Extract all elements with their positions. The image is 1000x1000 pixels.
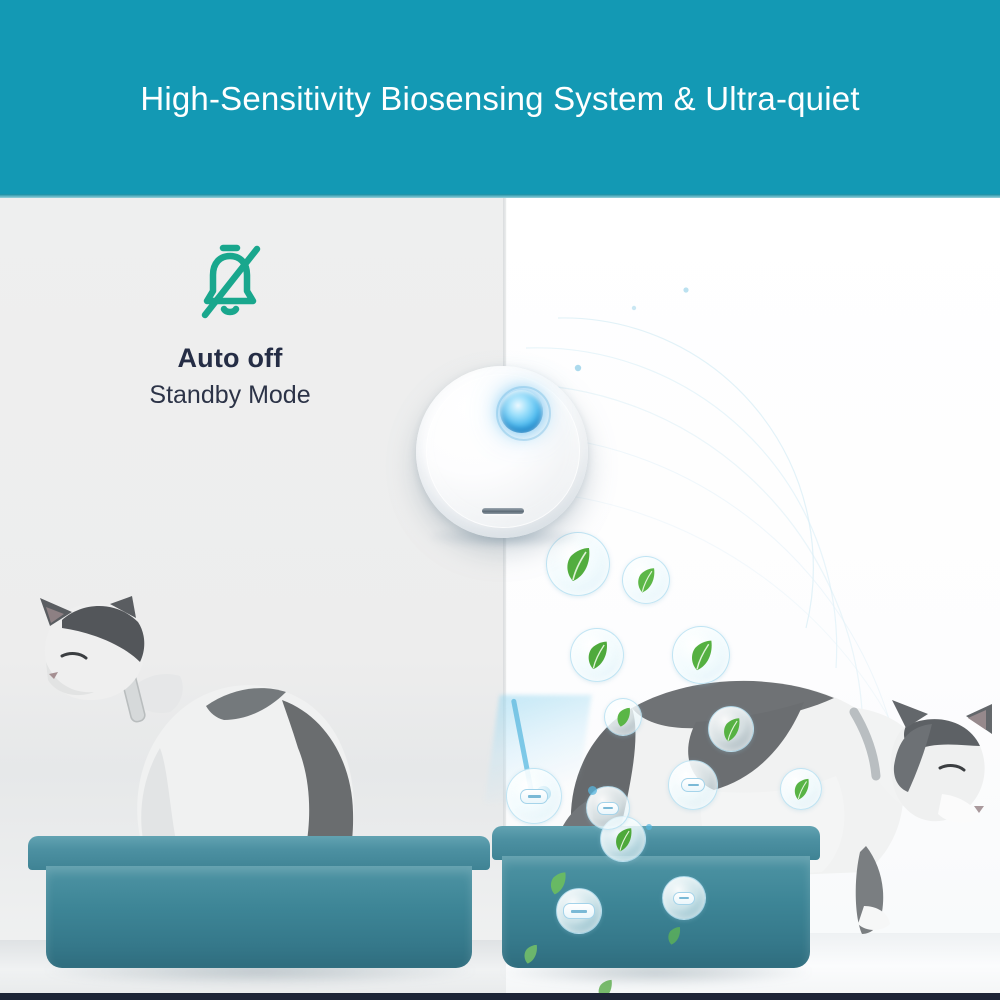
- ion-minus-pill: [681, 778, 705, 792]
- leaf-icon: [721, 716, 742, 743]
- leaf-icon: [522, 943, 539, 965]
- banner-title: High-Sensitivity Biosensing System & Ult…: [140, 80, 859, 118]
- negative-ion-bubble: [662, 876, 706, 920]
- leaf-icon: [666, 925, 682, 946]
- bell-off-glyph: [191, 239, 269, 323]
- leaf-icon: [613, 826, 634, 853]
- feature-title-auto-off: Auto off: [20, 343, 440, 374]
- feature-subtitle-auto-off: Standby Mode: [20, 379, 440, 411]
- smart-odor-purifier[interactable]: [408, 358, 598, 553]
- leaf-icon: [585, 639, 610, 671]
- air-outlet-slot: [482, 508, 524, 514]
- blue-led-indicator[interactable]: [500, 390, 543, 433]
- ion-dot: [646, 824, 652, 830]
- comparison-panels: Auto on Working Mode (Ultra Quiet < 20dB…: [0, 198, 1000, 993]
- feature-auto-off: Auto off Standby Mode: [20, 233, 440, 411]
- leaf-bubble: [622, 556, 670, 604]
- leaf-bubble: [672, 626, 730, 684]
- leaf-bubble: [604, 698, 642, 736]
- leaf-icon: [792, 777, 811, 801]
- bell-off-icon: [20, 233, 440, 329]
- ion-minus-pill: [597, 802, 619, 815]
- leaf-icon: [548, 870, 568, 896]
- ion-minus-pill: [563, 903, 595, 919]
- negative-ion-bubble: [668, 760, 718, 810]
- ion-minus-pill: [520, 789, 548, 804]
- product-infographic: High-Sensitivity Biosensing System & Ult…: [0, 0, 1000, 1000]
- leaf-icon: [635, 566, 657, 594]
- bottom-strip: [0, 993, 1000, 1000]
- leaf-bubble: [570, 628, 624, 682]
- ion-dot: [588, 786, 597, 795]
- leaf-icon: [615, 706, 632, 728]
- leaf-bubble: [780, 768, 822, 810]
- negative-ion-bubble: [506, 768, 562, 824]
- panel-divider: [503, 198, 507, 993]
- ion-minus-pill: [673, 892, 695, 905]
- leaf-bubble: [708, 706, 754, 752]
- leaf-icon: [688, 638, 715, 672]
- leaf-icon: [596, 978, 614, 993]
- header-banner: High-Sensitivity Biosensing System & Ult…: [0, 0, 1000, 198]
